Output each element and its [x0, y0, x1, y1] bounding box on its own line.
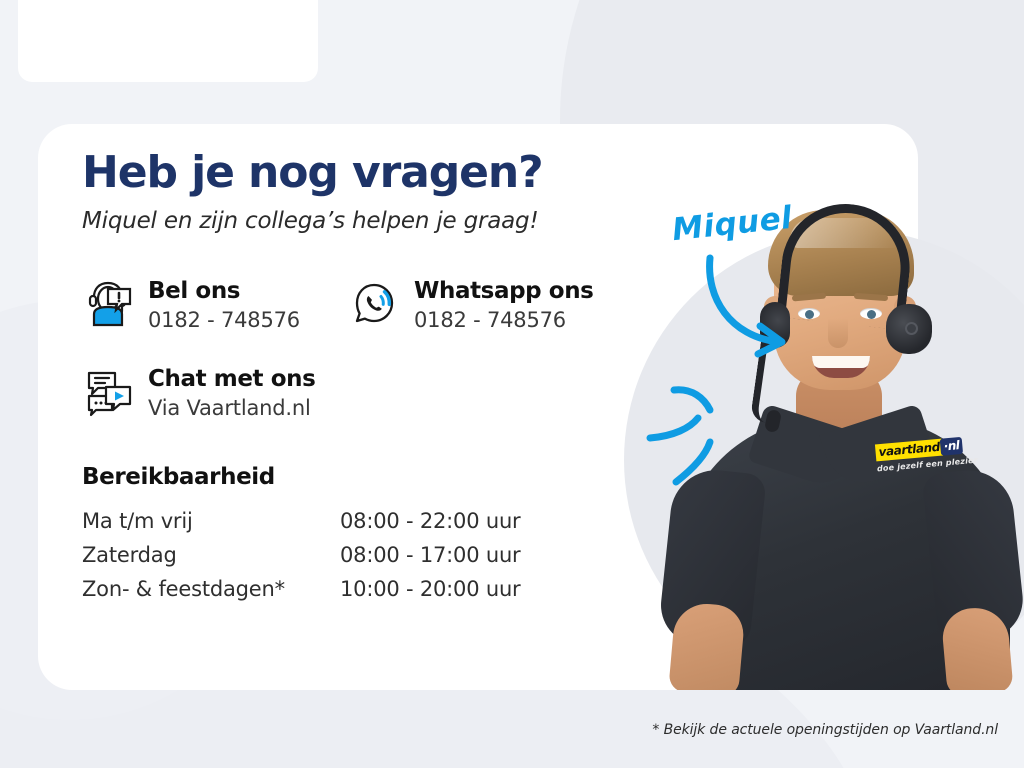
- hours-day: Zon- & feestdagen*: [82, 572, 340, 606]
- hours-time: 10:00 - 20:00 uur: [340, 572, 521, 606]
- hours-day: Zaterdag: [82, 538, 340, 572]
- contact-value-call: 0182 - 748576: [148, 308, 300, 332]
- curved-arrow-icon: [700, 250, 830, 370]
- chat-bubbles-icon: [82, 366, 134, 418]
- table-row: Ma t/m vrij 08:00 - 22:00 uur: [82, 504, 521, 538]
- contact-title-call: Bel ons: [148, 278, 240, 304]
- headset-agent-icon: [82, 278, 134, 330]
- logo-plate: [18, 0, 318, 82]
- footnote-text: * Bekijk de actuele openingstijden op Va…: [652, 722, 998, 738]
- polo-logo-tld: ·nl: [940, 437, 963, 456]
- contact-item-whatsapp[interactable]: Whatsapp ons 0182 - 748576: [348, 276, 593, 332]
- table-row: Zaterdag 08:00 - 17:00 uur: [82, 538, 521, 572]
- contact-value-chat: Via Vaartland.nl: [148, 396, 315, 420]
- contact-title-whatsapp: Whatsapp ons: [414, 278, 593, 304]
- contact-item-call[interactable]: Bel ons 0182 - 748576: [82, 276, 300, 332]
- contact-item-chat[interactable]: Chat met ons Via Vaartland.nl: [82, 364, 315, 420]
- hours-heading: Bereikbaarheid: [82, 464, 622, 490]
- opening-hours-table: Ma t/m vrij 08:00 - 22:00 uur Zaterdag 0…: [82, 504, 521, 606]
- page-title: Heb je nog vragen?: [82, 150, 622, 196]
- hours-time: 08:00 - 17:00 uur: [340, 538, 521, 572]
- table-row: Zon- & feestdagen* 10:00 - 20:00 uur: [82, 572, 521, 606]
- contact-value-whatsapp: 0182 - 748576: [414, 308, 593, 332]
- hours-time: 08:00 - 22:00 uur: [340, 504, 521, 538]
- contact-title-chat: Chat met ons: [148, 366, 315, 392]
- card-content: Heb je nog vragen? Miquel en zijn colleg…: [82, 150, 622, 606]
- page-subtitle: Miquel en zijn collega’s helpen je graag…: [82, 208, 622, 234]
- contact-methods: Bel ons 0182 - 748576 Whatsapp ons 0182 …: [82, 276, 622, 446]
- hours-day: Ma t/m vrij: [82, 504, 340, 538]
- whatsapp-icon: [348, 278, 400, 330]
- motion-lines-icon: [646, 362, 766, 492]
